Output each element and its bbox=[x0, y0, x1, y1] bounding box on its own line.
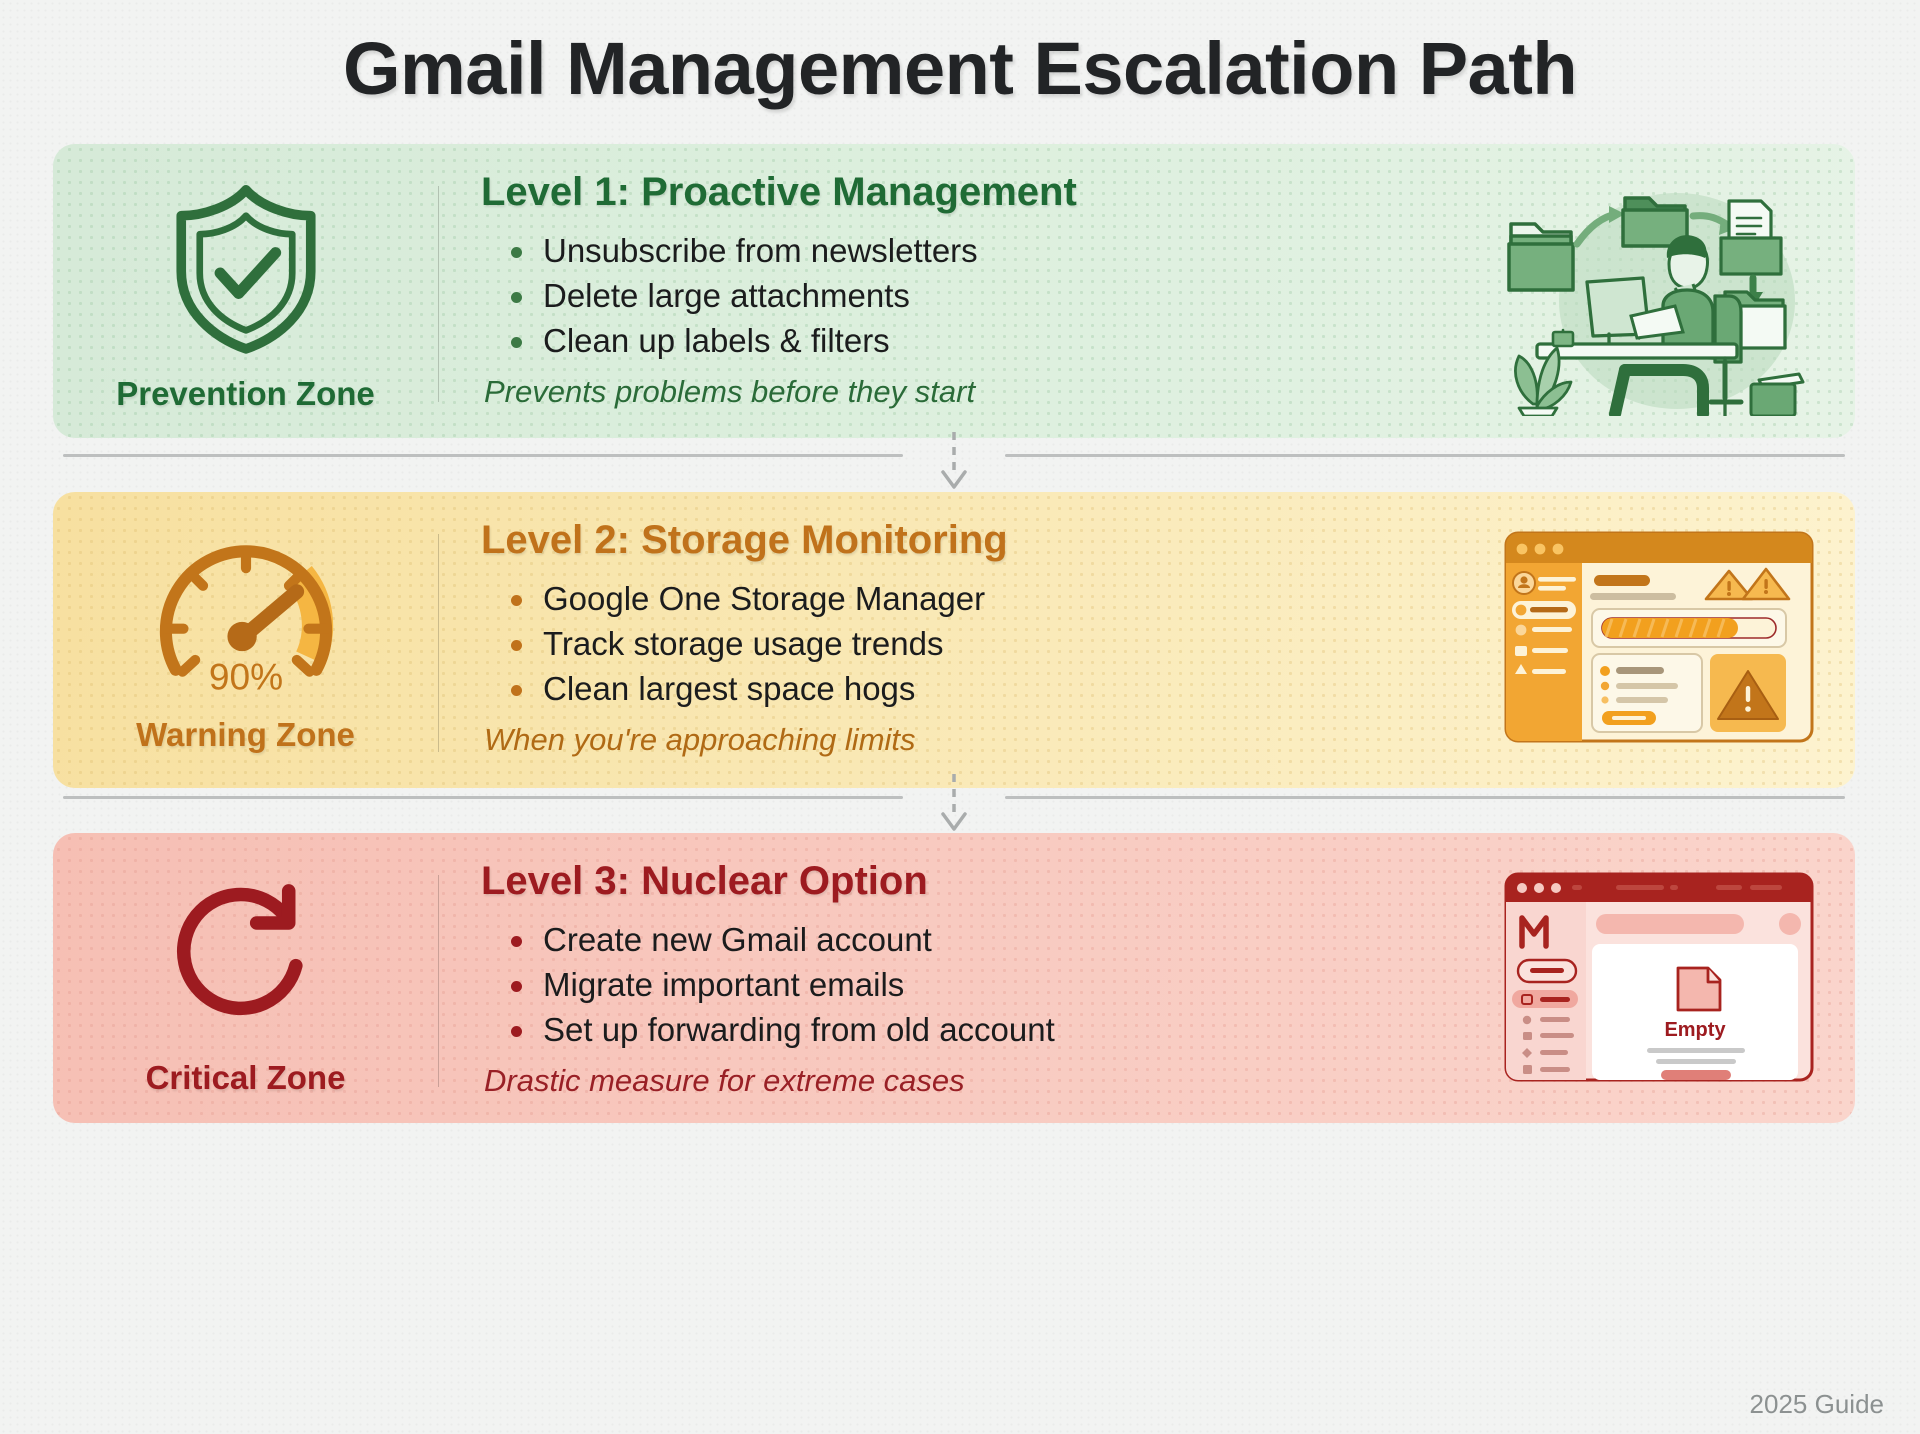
page-title: Gmail Management Escalation Path bbox=[0, 26, 1920, 111]
connector-rule-left bbox=[63, 796, 903, 799]
level-title: Level 1: Proactive Management bbox=[481, 170, 1495, 215]
gauge-icon: 90% bbox=[148, 533, 344, 706]
escalate-to-level-2-connector bbox=[53, 438, 1855, 492]
level-title: Level 3: Nuclear Option bbox=[481, 859, 1495, 904]
dashed-down-arrow-icon bbox=[937, 430, 971, 497]
list-item: Clean largest space hogs bbox=[505, 667, 1495, 712]
level-1-panel: Prevention Zone Level 1: Proactive Manag… bbox=[53, 144, 1855, 438]
list-item: Track storage usage trends bbox=[505, 622, 1495, 667]
prevention-zone-column: Prevention Zone bbox=[53, 144, 438, 438]
zone-label: Prevention Zone bbox=[116, 375, 375, 413]
person-organizing-folders-illustration bbox=[1495, 144, 1855, 438]
level-title: Level 2: Storage Monitoring bbox=[481, 518, 1495, 563]
level-caption: Prevents problems before they start bbox=[484, 374, 1495, 410]
svg-text:Empty: Empty bbox=[1664, 1019, 1726, 1041]
level-1-content: Level 1: Proactive Management Unsubscrib… bbox=[439, 144, 1495, 438]
level-2-bullet-list: Google One Storage Manager Track storage… bbox=[505, 577, 1495, 712]
footer-note: 2025 Guide bbox=[1750, 1389, 1884, 1420]
list-item: Delete large attachments bbox=[505, 274, 1495, 319]
list-item: Google One Storage Manager bbox=[505, 577, 1495, 622]
zone-label: Warning Zone bbox=[136, 716, 355, 754]
refresh-restart-icon bbox=[155, 866, 337, 1049]
zone-label: Critical Zone bbox=[146, 1059, 346, 1097]
dashed-down-arrow-icon bbox=[937, 772, 971, 839]
escalate-to-level-3-connector bbox=[53, 780, 1855, 834]
warning-zone-column: 90% Warning Zone bbox=[53, 492, 438, 788]
connector-rule-right bbox=[1005, 454, 1845, 457]
level-3-bullet-list: Create new Gmail account Migrate importa… bbox=[505, 918, 1495, 1053]
level-caption: Drastic measure for extreme cases bbox=[484, 1063, 1495, 1099]
level-3-content: Level 3: Nuclear Option Create new Gmail… bbox=[439, 833, 1495, 1123]
empty-mailbox-illustration: Empty bbox=[1495, 833, 1855, 1123]
connector-rule-left bbox=[63, 454, 903, 457]
level-3-panel: Critical Zone Level 3: Nuclear Option Cr… bbox=[53, 833, 1855, 1123]
list-item: Clean up labels & filters bbox=[505, 319, 1495, 364]
level-2-panel: 90% Warning Zone Level 2: Storage Monito… bbox=[53, 492, 1855, 788]
connector-rule-right bbox=[1005, 796, 1845, 799]
svg-text:90%: 90% bbox=[208, 655, 282, 697]
level-caption: When you're approaching limits bbox=[484, 722, 1495, 758]
list-item: Unsubscribe from newsletters bbox=[505, 229, 1495, 274]
list-item: Migrate important emails bbox=[505, 963, 1495, 1008]
list-item: Set up forwarding from old account bbox=[505, 1008, 1495, 1053]
level-2-content: Level 2: Storage Monitoring Google One S… bbox=[439, 492, 1495, 788]
critical-zone-column: Critical Zone bbox=[53, 833, 438, 1123]
level-1-bullet-list: Unsubscribe from newsletters Delete larg… bbox=[505, 229, 1495, 364]
storage-dashboard-illustration bbox=[1495, 492, 1855, 788]
list-item: Create new Gmail account bbox=[505, 918, 1495, 963]
shield-check-icon bbox=[151, 175, 341, 365]
